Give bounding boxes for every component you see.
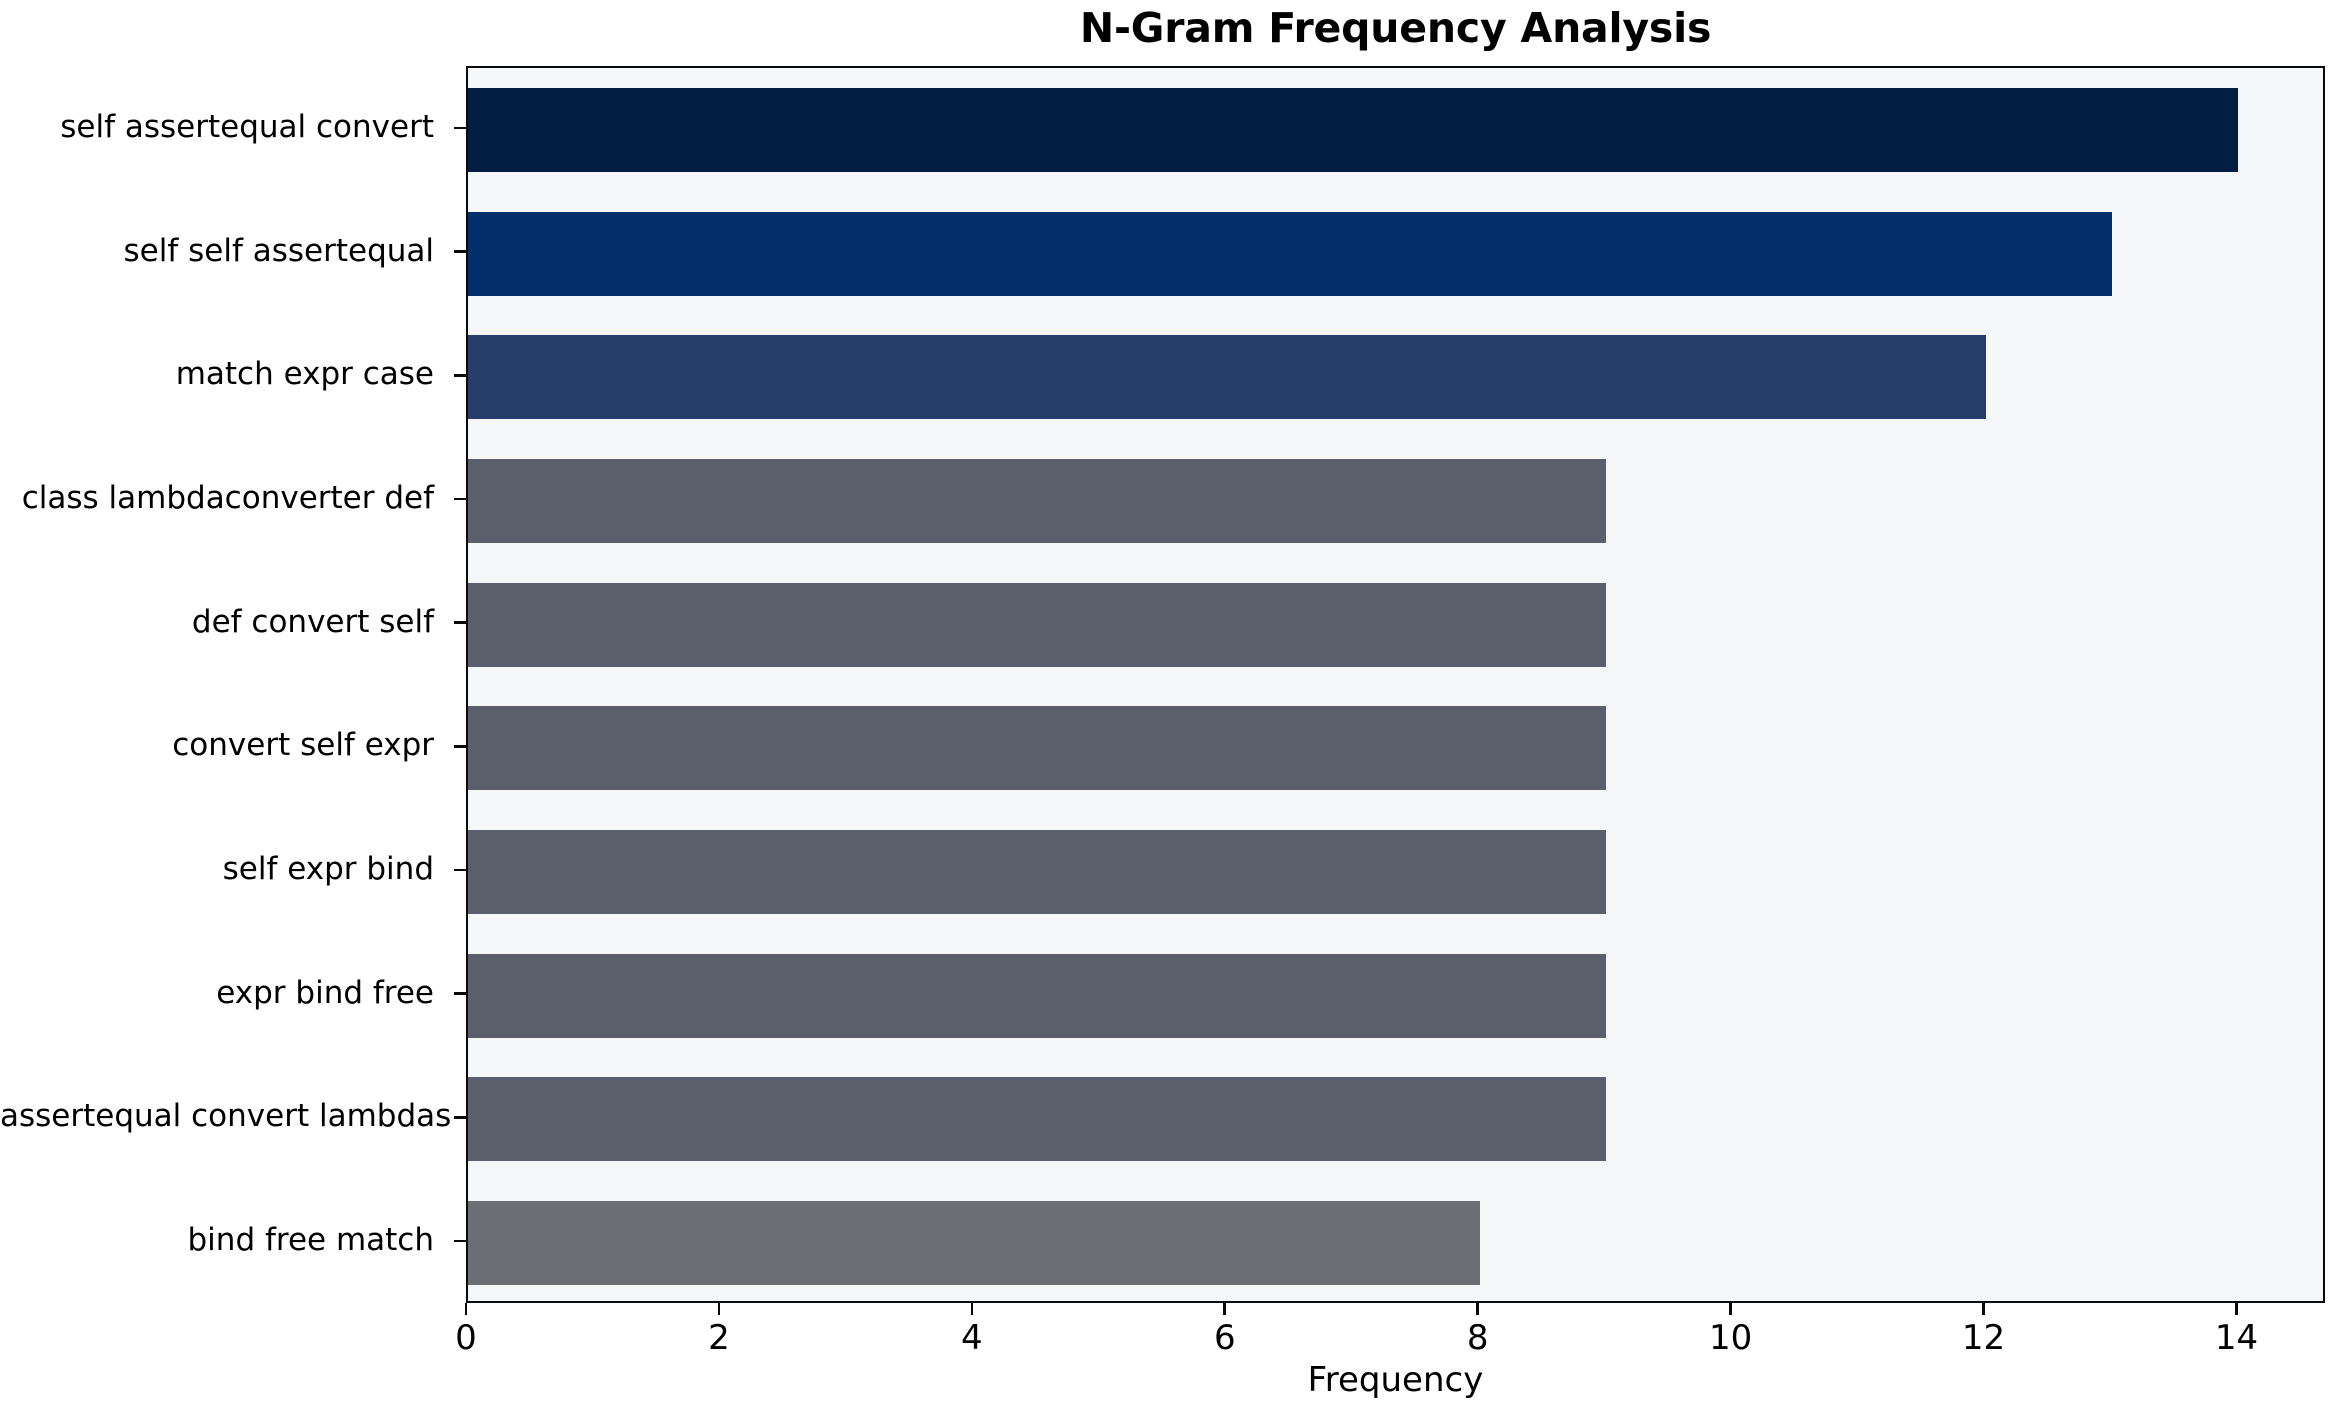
y-axis-tick-mark xyxy=(454,745,466,748)
x-axis-tick-label: 0 xyxy=(406,1318,526,1358)
bar xyxy=(468,706,1606,790)
plot-area xyxy=(466,66,2325,1303)
x-axis-tick-mark xyxy=(718,1303,721,1315)
x-axis-tick-marks xyxy=(466,1303,2325,1315)
bar xyxy=(468,830,1606,914)
y-axis-tick-label: self assertequal convert xyxy=(0,112,452,143)
bar xyxy=(468,583,1606,667)
y-axis-tick-mark xyxy=(454,621,466,624)
y-axis-tick-mark xyxy=(454,374,466,377)
x-axis-tick-mark xyxy=(971,1303,974,1315)
y-axis-tick-labels: self assertequal convertself self assert… xyxy=(0,66,452,1303)
x-axis-tick-label: 12 xyxy=(1924,1318,2044,1358)
y-axis-tick-mark xyxy=(454,869,466,872)
y-axis-tick-label: class lambdaconverter def xyxy=(0,483,452,514)
x-axis-tick-label: 6 xyxy=(1165,1318,1285,1358)
chart-title: N-Gram Frequency Analysis xyxy=(466,4,2325,52)
x-axis-tick-mark xyxy=(1223,1303,1226,1315)
bar xyxy=(468,1201,1480,1285)
y-axis-tick-mark xyxy=(454,1240,466,1243)
x-axis-tick-label: 10 xyxy=(1671,1318,1791,1358)
bars-layer xyxy=(468,68,2323,1301)
x-axis-tick-mark xyxy=(1982,1303,1985,1315)
y-axis-tick-label: expr bind free xyxy=(0,978,452,1009)
y-axis-tick-label: assertequal convert lambdas xyxy=(0,1101,452,1132)
x-axis-tick-label: 14 xyxy=(2176,1318,2296,1358)
y-axis-tick-mark xyxy=(454,992,466,995)
bar xyxy=(468,212,2112,296)
y-axis-tick-label: match expr case xyxy=(0,359,452,390)
y-axis-tick-label: def convert self xyxy=(0,607,452,638)
x-axis-tick-label: 2 xyxy=(659,1318,779,1358)
x-axis-tick-labels: 02468101214 xyxy=(466,1318,2325,1364)
bar xyxy=(468,335,1986,419)
y-axis-tick-mark xyxy=(454,1116,466,1119)
y-axis-tick-mark xyxy=(454,127,466,130)
x-axis-tick-mark xyxy=(1729,1303,1732,1315)
bar xyxy=(468,1077,1606,1161)
x-axis-tick-mark xyxy=(465,1303,468,1315)
y-axis-tick-label: self self assertequal xyxy=(0,236,452,267)
x-axis-tick-mark xyxy=(1476,1303,1479,1315)
x-axis-label: Frequency xyxy=(466,1360,2325,1400)
y-axis-tick-label: bind free match xyxy=(0,1225,452,1256)
x-axis-tick-label: 4 xyxy=(912,1318,1032,1358)
chart-figure: N-Gram Frequency Analysis self assertequ… xyxy=(0,0,2345,1414)
y-axis-tick-label: convert self expr xyxy=(0,730,452,761)
y-axis-tick-label: self expr bind xyxy=(0,854,452,885)
y-axis-tick-mark xyxy=(454,498,466,501)
x-axis-tick-mark xyxy=(2235,1303,2238,1315)
y-axis-tick-mark xyxy=(454,250,466,253)
x-axis-tick-label: 8 xyxy=(1418,1318,1538,1358)
bar xyxy=(468,954,1606,1038)
bar xyxy=(468,88,2238,172)
bar xyxy=(468,459,1606,543)
